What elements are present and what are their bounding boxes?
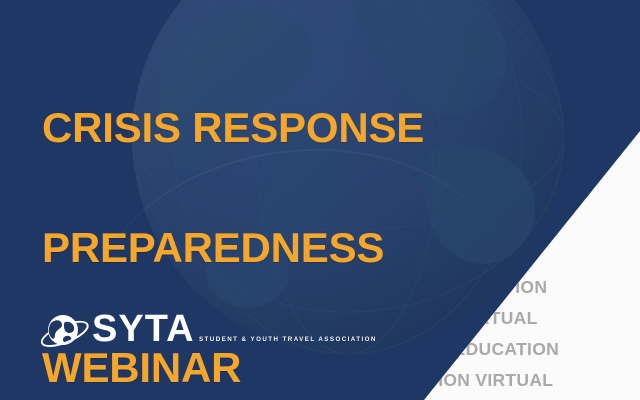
- syta-logo-text: SYTA STUDENT & YOUTH TRAVEL ASSOCIATION: [92, 306, 377, 347]
- syta-logo: SYTA STUDENT & YOUTH TRAVEL ASSOCIATION: [38, 306, 377, 358]
- title-line-2: PREPAREDNESS: [42, 218, 512, 278]
- title-line-1: CRISIS RESPONSE: [42, 98, 512, 158]
- slide-canvas: CRISIS RESPONSE PREPAREDNESS WEBINAR: [0, 0, 640, 400]
- globe-logo-icon: [38, 306, 90, 358]
- syta-tagline: STUDENT & YOUTH TRAVEL ASSOCIATION: [199, 336, 377, 343]
- syta-wordmark: SYTA: [92, 308, 195, 350]
